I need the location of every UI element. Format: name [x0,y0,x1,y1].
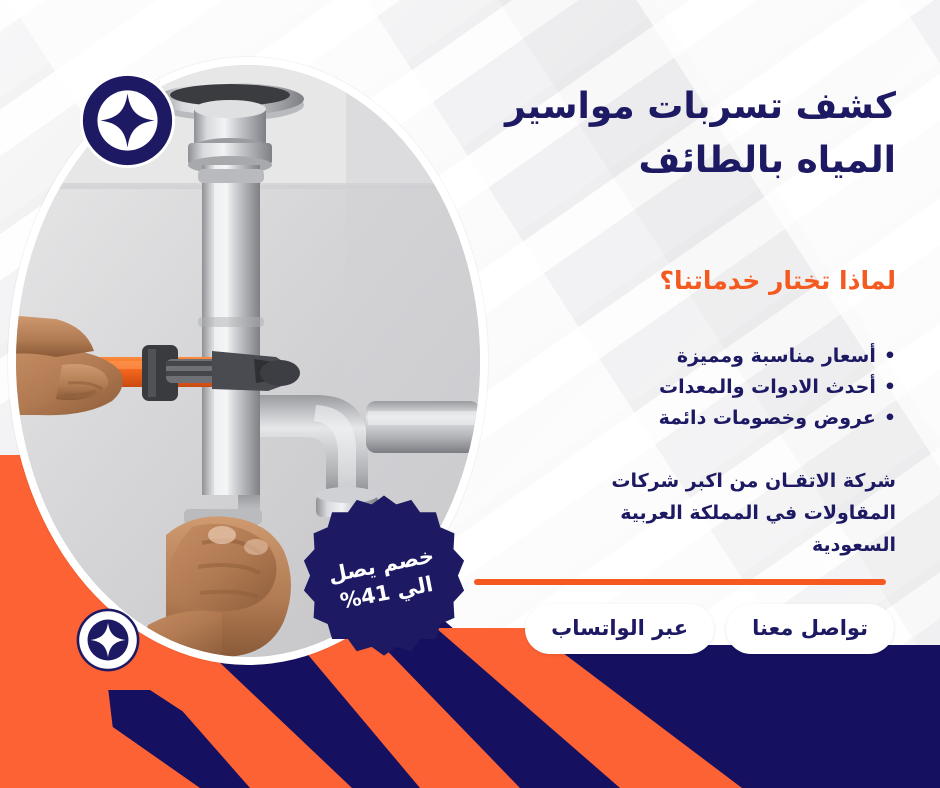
orange-divider [474,579,886,585]
brand-logo-top [79,72,176,169]
brand-logo-bottom [76,608,140,672]
page-title-line-2: المياه بالطائف [426,134,896,188]
subheading: لماذا تختار خدماتنا؟ [426,266,896,295]
list-item: أحدث الادوات والمعدات [426,372,896,403]
poster-canvas: خصم يصل الي 41% كشف تسربات مواسير المياه… [0,0,940,788]
company-description-line-2: المقاولات في المملكة العربية [426,498,896,530]
benefits-list: أسعار مناسبة ومميزة أحدث الادوات والمعدا… [426,341,896,433]
company-description-line-3: السعودية [426,530,896,562]
contact-us-button[interactable]: تواصل معنا [726,604,894,654]
cta-button-group: تواصل معنا عبر الواتساب [525,604,894,654]
company-description-line-1: شركة الاتقـان من اكبر شركات [426,466,896,498]
page-title: كشف تسربات مواسير المياه بالطائف [426,80,896,188]
list-item: أسعار مناسبة ومميزة [426,341,896,372]
company-description: شركة الاتقـان من اكبر شركات المقاولات في… [426,466,896,562]
list-item: عروض وخصومات دائمة [426,403,896,434]
whatsapp-button[interactable]: عبر الواتساب [525,604,714,654]
content-column: كشف تسربات مواسير المياه بالطائف لماذا ت… [426,0,896,788]
page-title-line-1: كشف تسربات مواسير [426,80,896,134]
